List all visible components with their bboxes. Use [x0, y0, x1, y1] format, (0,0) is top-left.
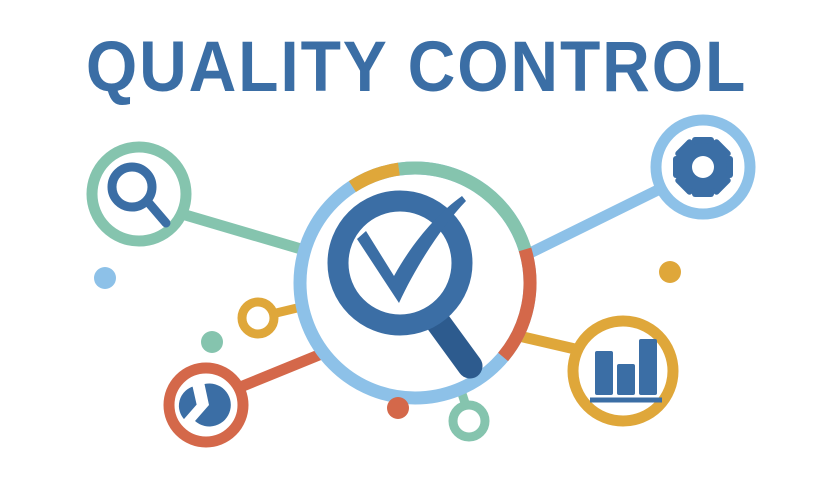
dot-green — [201, 331, 223, 353]
bar-chart-bar-2 — [617, 364, 635, 395]
connector-inspection — [182, 214, 318, 254]
infographic-canvas — [0, 0, 833, 500]
node-statistics[interactable] — [573, 321, 673, 421]
stub-ring-green[interactable] — [453, 405, 485, 437]
stub-ring-yellow[interactable] — [242, 302, 274, 334]
gear-icon — [673, 137, 733, 197]
bar-chart-bar-3 — [639, 339, 657, 395]
node-analysis[interactable] — [169, 368, 243, 442]
magnifier-icon-lens — [112, 167, 152, 207]
gear-icon-hub — [692, 156, 714, 178]
central-quality-hub[interactable] — [300, 168, 530, 398]
node-inspection[interactable] — [92, 147, 186, 241]
dot-red — [387, 397, 409, 419]
stub-ring-yellow-circle — [242, 302, 274, 334]
bar-chart-bar-1 — [595, 351, 613, 395]
dot-yellow — [659, 261, 681, 283]
stub-ring-green-circle — [453, 405, 485, 437]
node-settings[interactable] — [656, 120, 750, 214]
dot-blue — [94, 267, 116, 289]
quality-control-infographic: QUALITY CONTROL — [0, 0, 833, 500]
connector-settings — [528, 188, 662, 254]
